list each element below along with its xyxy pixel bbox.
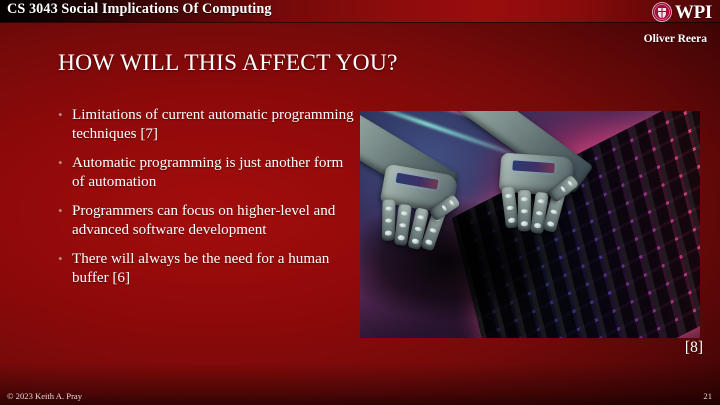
list-item: • Programmers can focus on higher-level …	[57, 202, 357, 239]
image-citation: [8]	[685, 339, 703, 357]
list-item: • Automatic programming is just another …	[57, 154, 357, 191]
slide-illustration	[360, 111, 700, 338]
footer-fade	[0, 363, 720, 405]
bullet-marker-icon: •	[57, 202, 72, 221]
wpi-wordmark: WPI	[675, 3, 712, 22]
bullet-text: Limitations of current automatic program…	[72, 106, 357, 143]
robot-palm-plate	[396, 173, 440, 191]
bullet-list: • Limitations of current automatic progr…	[57, 106, 357, 298]
slide-title: HOW WILL THIS AFFECT YOU?	[58, 50, 398, 77]
presentation-slide: CS 3043 Social Implications Of Computing…	[0, 0, 720, 405]
list-item: • Limitations of current automatic progr…	[57, 106, 357, 143]
author-name: Oliver Reera	[644, 33, 707, 45]
list-item: • There will always be the need for a hu…	[57, 250, 357, 287]
bullet-text: There will always be the need for a huma…	[72, 250, 357, 287]
footer-page-number: 21	[703, 391, 712, 401]
bullet-marker-icon: •	[57, 154, 72, 173]
bullet-text: Automatic programming is just another fo…	[72, 154, 357, 191]
wpi-logo: WPI	[652, 0, 712, 24]
robot-palm-plate	[512, 161, 555, 174]
course-title: CS 3043 Social Implications Of Computing	[7, 1, 272, 18]
footer-copyright: © 2023 Keith A. Pray	[7, 391, 82, 401]
slide-header-bar: CS 3043 Social Implications Of Computing	[0, 0, 720, 22]
bullet-marker-icon: •	[57, 106, 72, 125]
bullet-text: Programmers can focus on higher-level an…	[72, 202, 357, 239]
bullet-marker-icon: •	[57, 250, 72, 269]
robot-hand-right	[497, 153, 604, 228]
robot-finger	[519, 191, 532, 232]
wpi-seal-icon	[652, 2, 672, 22]
